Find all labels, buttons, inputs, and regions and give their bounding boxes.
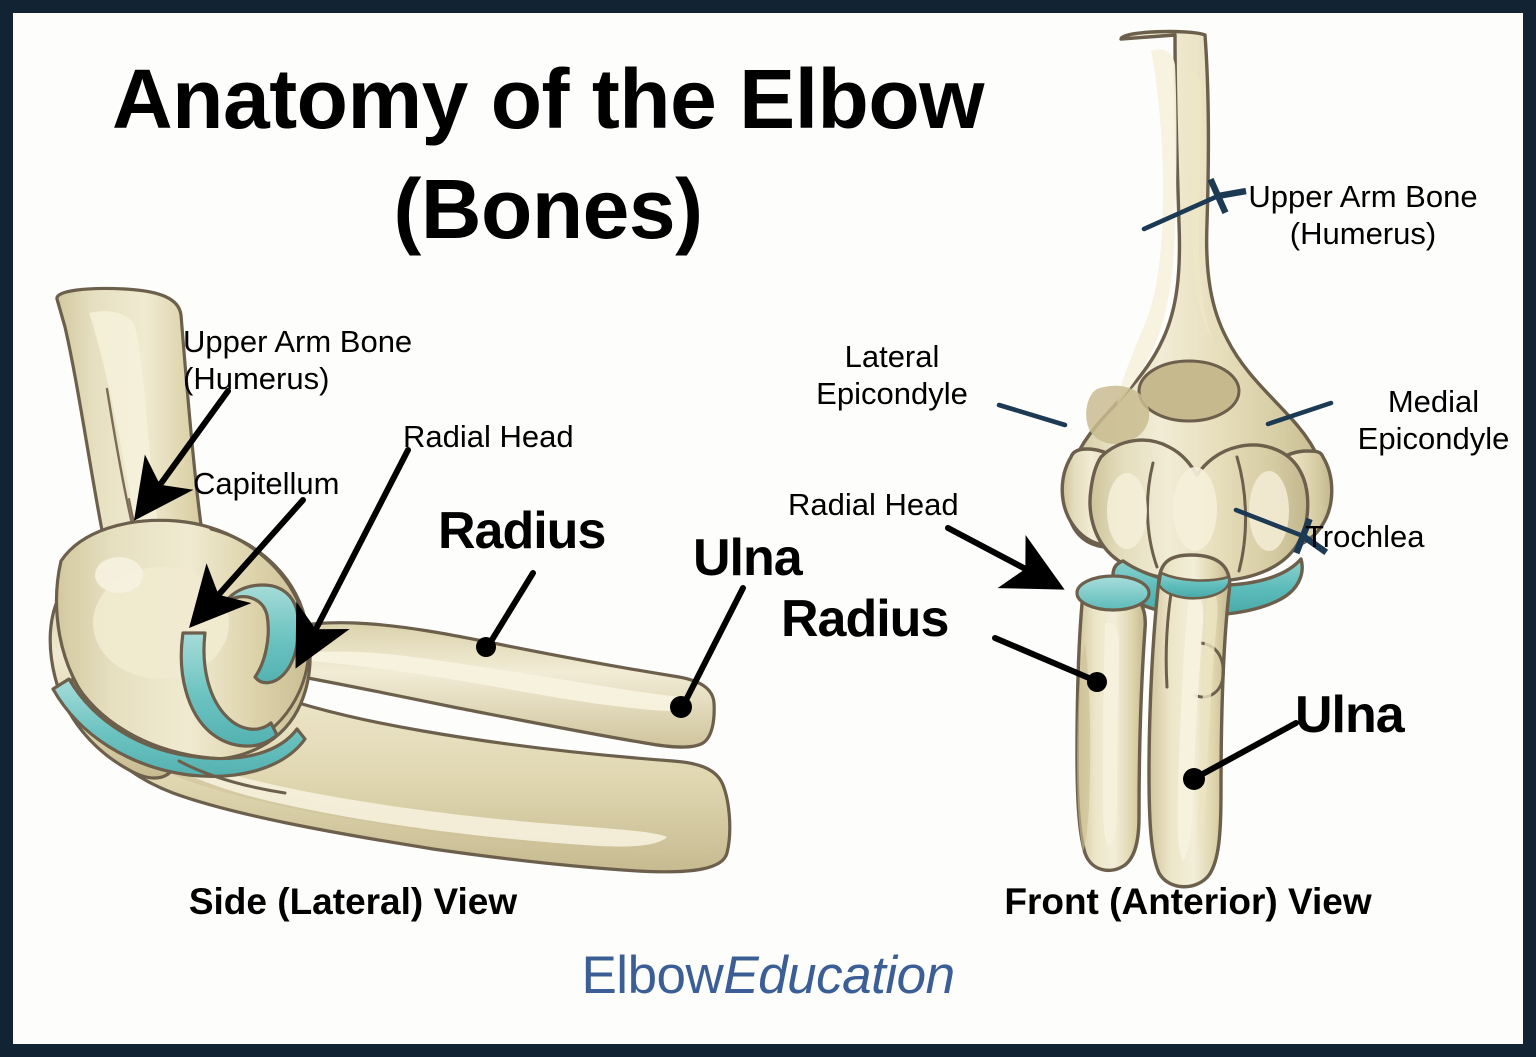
brand-part1: Elbow xyxy=(581,946,723,1005)
label-lateral-epicondyle: Lateral Epicondyle xyxy=(783,338,1001,412)
anterior-view-illustration xyxy=(993,33,1413,893)
label-upper-arm-bone-humerus-right: Upper Arm Bone (Humerus) xyxy=(1218,178,1508,252)
label-radius-left: Radius xyxy=(438,513,668,550)
label-radius-right: Radius xyxy=(781,601,1011,638)
label-radial-head-right: Radial Head xyxy=(788,486,1008,523)
label-ulna-right: Ulna xyxy=(1295,697,1475,734)
label-capitellum: Capitellum xyxy=(193,465,413,502)
label-medial-epicondyle: Medial Epicondyle xyxy=(1331,383,1523,457)
label-ulna-left: Ulna xyxy=(693,540,873,577)
page-title-line1: Anatomy of the Elbow xyxy=(13,53,1083,145)
caption-side-lateral-view: Side (Lateral) View xyxy=(133,881,573,923)
label-trochlea: Trochlea xyxy=(1305,518,1485,555)
brand-wordmark: ElbowEducation xyxy=(13,945,1523,1006)
label-upper-arm-bone-humerus-left: Upper Arm Bone (Humerus) xyxy=(183,323,483,397)
poster-canvas: Anatomy of the Elbow (Bones) xyxy=(13,13,1523,1044)
label-radial-head-left: Radial Head xyxy=(403,418,633,455)
poster-border: Anatomy of the Elbow (Bones) xyxy=(0,0,1536,1057)
brand-part2: Education xyxy=(723,946,954,1005)
page-title-line2: (Bones) xyxy=(13,163,1083,255)
caption-front-anterior-view: Front (Anterior) View xyxy=(953,881,1423,923)
